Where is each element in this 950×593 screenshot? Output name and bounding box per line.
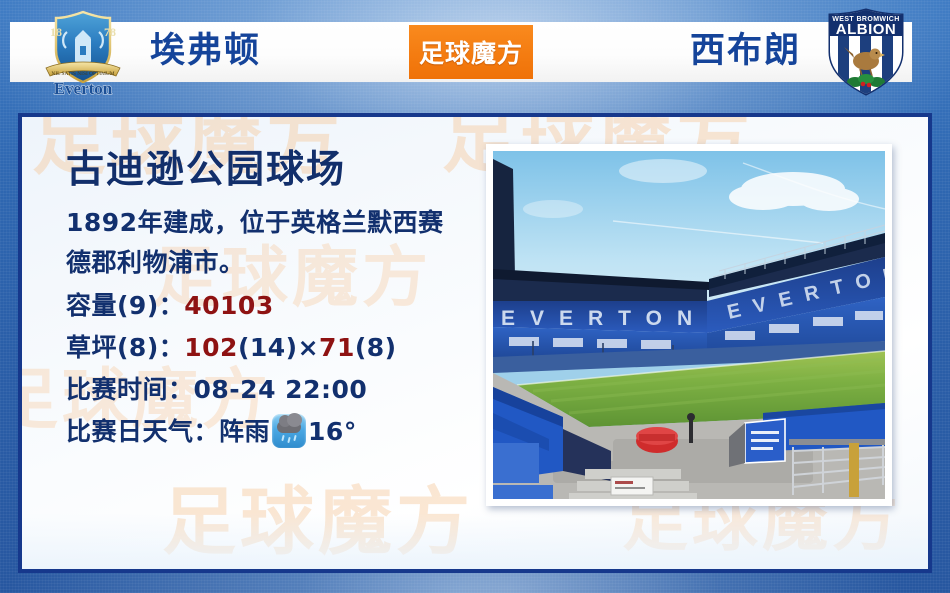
match-header: 18 78 NIL SATIS NISI OPTIMUM Everton 埃弗顿… [0,0,950,100]
pitch-times: × [298,333,319,362]
weather-row: 比赛日天气：阵雨16° [66,411,486,453]
stadium-info-panel: 足球魔方 足球魔方 足球魔方 足球魔方 足球魔方 足球魔方 古迪逊公园球场 18… [18,113,932,573]
pitch-length: 102 [184,333,238,362]
crest-year-left: 18 [50,25,62,39]
pitch-length-note: (14) [238,333,298,362]
capacity-label: 容量(9)： [66,291,184,320]
pitch-label: 草坪(8)： [66,333,184,362]
crest-line2: ALBION [836,21,897,38]
stadium-info-block: 古迪逊公园球场 1892年建成，位于英格兰默西赛德郡利物浦市。 容量(9)：40… [66,149,486,453]
crest-motto: NIL SATIS NISI OPTIMUM [51,71,114,77]
brand-logo-text: 足球魔方 [419,34,523,70]
panel-inner: 足球魔方 足球魔方 足球魔方 足球魔方 足球魔方 足球魔方 古迪逊公园球场 18… [22,117,928,569]
stand-text: EVERTON [501,307,707,330]
weather-condition: 阵雨 [219,417,270,446]
stadium-title: 古迪逊公园球场 [66,149,486,191]
goodison-park-photo-frame[interactable]: EVERTON EVERTON [486,144,892,506]
crest-wordmark: Everton [54,79,113,98]
capacity-value: 40103 [184,291,273,320]
match-time-row: 比赛时间：08-24 22:00 [66,369,486,411]
brand-logo[interactable]: 足球魔方 [409,25,533,79]
weather-label: 比赛日天气： [66,417,219,446]
stadium-description: 1892年建成，位于英格兰默西赛德郡利物浦市。 [66,203,466,283]
weather-temperature: 16° [308,417,357,446]
capacity-row: 容量(9)：40103 [66,285,486,327]
watermark: 足球魔方 [162,485,474,559]
shower-rain-icon [272,414,306,448]
pitch-width-note: (8) [355,333,397,362]
pitch-width: 71 [319,333,355,362]
away-team-name: 西布朗 [690,26,801,76]
match-time-value: 08-24 22:00 [194,375,368,404]
panel-bottom-fade [22,513,928,569]
home-team-name: 埃弗顿 [150,26,261,76]
crest-year-right: 78 [104,25,116,39]
match-time-label: 比赛时间： [66,375,194,404]
west-bromwich-albion-crest[interactable]: WEST BROMWICH ALBION [818,6,914,98]
pitch-row: 草坪(8)：102(14)×71(8) [66,327,486,369]
everton-crest[interactable]: 18 78 NIL SATIS NISI OPTIMUM Everton [36,6,130,98]
goodison-park-photo: EVERTON EVERTON [493,151,885,499]
